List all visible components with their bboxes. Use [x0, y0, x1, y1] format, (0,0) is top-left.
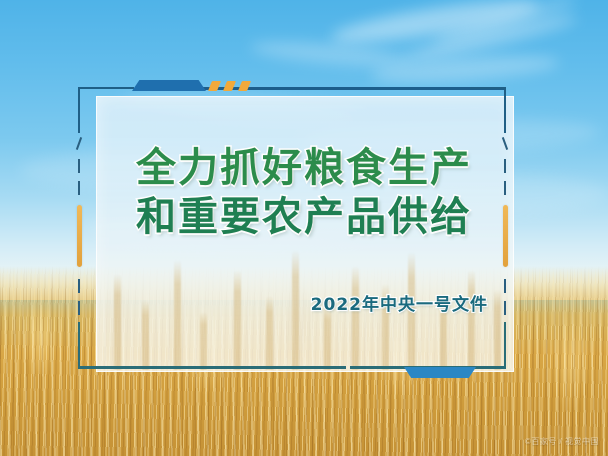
- poster-title-line-1: 全力抓好粮食生产: [136, 144, 472, 193]
- cloud-wisp: [249, 37, 410, 71]
- poster-canvas: 全力抓好粮食生产 和重要农产品供给 2022年中央一号文件 ©百家号 / 视觉中…: [0, 0, 608, 456]
- poster-title-line-2: 和重要农产品供给: [136, 193, 472, 242]
- watermark-credit: ©百家号 / 视觉中国: [525, 436, 599, 447]
- title-block: 全力抓好粮食生产 和重要农产品供给 2022年中央一号文件: [96, 96, 512, 370]
- poster-subtitle: 2022年中央一号文件: [311, 290, 488, 315]
